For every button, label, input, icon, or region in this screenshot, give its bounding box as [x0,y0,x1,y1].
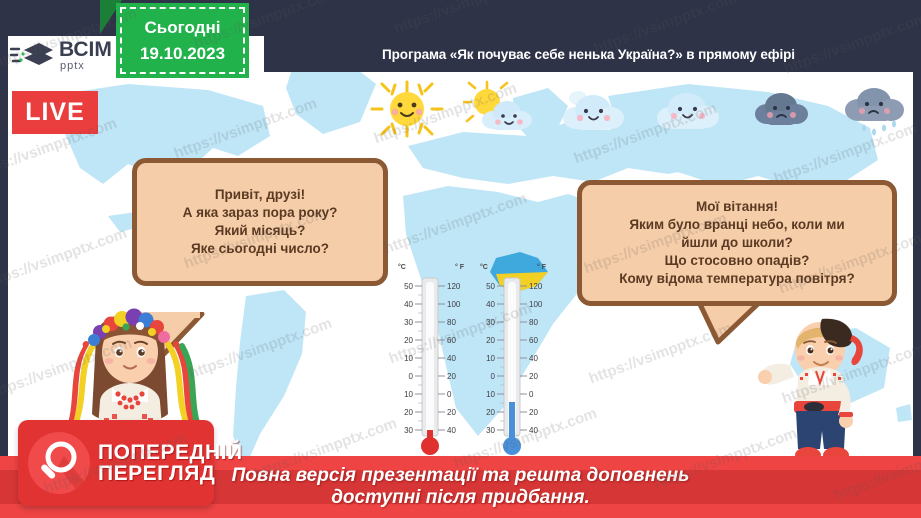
dark-cloud-icon [743,80,817,138]
thermometer-red-units: °C ° F [396,264,466,271]
rain-cloud-icon [836,80,910,138]
bubble-left-line-2: А яка зараз пора року? [183,204,338,222]
svg-text:40: 40 [447,426,456,435]
svg-text:20: 20 [529,372,538,381]
today-date: 19.10.2023 [140,44,225,64]
svg-text:0: 0 [409,372,414,381]
svg-text:0: 0 [491,372,496,381]
thermometer-blue-units: °C ° F [478,264,548,271]
bubble-right-line-4: Що стосовно опадів? [665,252,810,270]
today-label: Сьогодні [145,18,221,38]
header-banner: Програма «Як почуває себе ненька Україна… [264,36,913,72]
thermometer-group: °C ° F [396,264,546,459]
graduation-cap-icon [10,40,54,70]
svg-text:40: 40 [529,426,538,435]
svg-text:40: 40 [529,354,538,363]
svg-text:20: 20 [486,336,495,345]
svg-text:30: 30 [486,318,495,327]
slide-root: °C ° F [0,0,921,518]
svg-text:20: 20 [447,372,456,381]
boy-in-vyshyvanka [758,305,888,465]
svg-text:60: 60 [529,336,538,345]
svg-text:40: 40 [486,300,495,309]
bubble-left-line-3: Який місяць? [215,222,306,240]
svg-text:10: 10 [486,390,495,399]
svg-text:40: 40 [447,354,456,363]
fahrenheit-unit-label-2: ° F [537,264,546,271]
speech-bubble-girl: Привіт, друзі! А яка зараз пора року? Як… [132,158,388,286]
brand-suffix: pptx [60,61,112,72]
weather-icon-row [370,80,910,138]
live-badge: LIVE [12,91,98,134]
svg-text:20: 20 [404,408,413,417]
svg-text:100: 100 [447,300,461,309]
today-badge: Сьогодні 19.10.2023 [116,3,249,78]
preview-badge-line-1: ПОПЕРЕДНІЙ [98,442,243,463]
preview-badge-line-2: ПЕРЕГЛЯД [98,463,243,484]
fahrenheit-unit-label: ° F [455,264,464,271]
bubble-left-line-4: Яке сьогодні число? [191,240,329,258]
svg-text:10: 10 [404,390,413,399]
svg-text:50: 50 [404,282,413,291]
sun-behind-cloud-icon [463,80,537,138]
svg-text:0: 0 [447,390,452,399]
bubble-left-line-1: Привіт, друзі! [215,186,305,204]
bubble-right-line-2: Яким було вранці небо, коли ми [629,216,844,234]
cloud-icon [556,80,630,138]
brand-name: ВСІМ [59,39,112,60]
svg-text:30: 30 [486,426,495,435]
celsius-unit-label-2: °C [480,264,488,271]
bubble-right-line-5: Кому відома температура повітря? [619,270,855,288]
svg-text:10: 10 [404,354,413,363]
preview-badge[interactable]: ПОПЕРЕДНІЙ ПЕРЕГЛЯД [18,420,214,506]
svg-text:0: 0 [529,390,534,399]
purchase-notice-line-2: доступні після придбання. [232,487,690,509]
svg-text:20: 20 [447,408,456,417]
preview-badge-text: ПОПЕРЕДНІЙ ПЕРЕГЛЯД [98,442,243,485]
purchase-notice-text: Повна версія презентації та решта доповн… [232,465,690,510]
speech-bubble-boy: Мої вітання! Яким було вранці небо, коли… [577,180,897,306]
svg-text:80: 80 [447,318,456,327]
svg-text:40: 40 [404,300,413,309]
watermark: https://vsimpptx.com [392,0,540,37]
magnifier-icon [28,432,90,494]
svg-text:30: 30 [404,318,413,327]
brand-logo-text: ВСІМ pptx [59,39,112,72]
thermometer-blue: °C ° F [478,264,548,459]
brand-logo[interactable]: ВСІМ pptx [10,34,122,76]
svg-text:20: 20 [529,408,538,417]
svg-text:30: 30 [404,426,413,435]
svg-text:20: 20 [486,408,495,417]
bubble-right-line-3: йшли до школи? [681,234,793,252]
svg-text:80: 80 [529,318,538,327]
page-title: Програма «Як почуває себе ненька Україна… [382,47,795,62]
svg-text:60: 60 [447,336,456,345]
live-badge-label: LIVE [25,98,85,127]
svg-text:120: 120 [447,282,461,291]
bubble-right-line-1: Мої вітання! [696,198,778,216]
svg-text:20: 20 [404,336,413,345]
svg-text:100: 100 [529,300,543,309]
cloud-icon-2 [650,80,724,138]
purchase-notice-line-1: Повна версія презентації та решта доповн… [232,465,690,487]
celsius-unit-label: °C [398,264,406,271]
svg-text:10: 10 [486,354,495,363]
thermometer-red: °C ° F [396,264,466,459]
svg-text:120: 120 [529,282,543,291]
sun-icon [370,80,444,138]
svg-text:50: 50 [486,282,495,291]
